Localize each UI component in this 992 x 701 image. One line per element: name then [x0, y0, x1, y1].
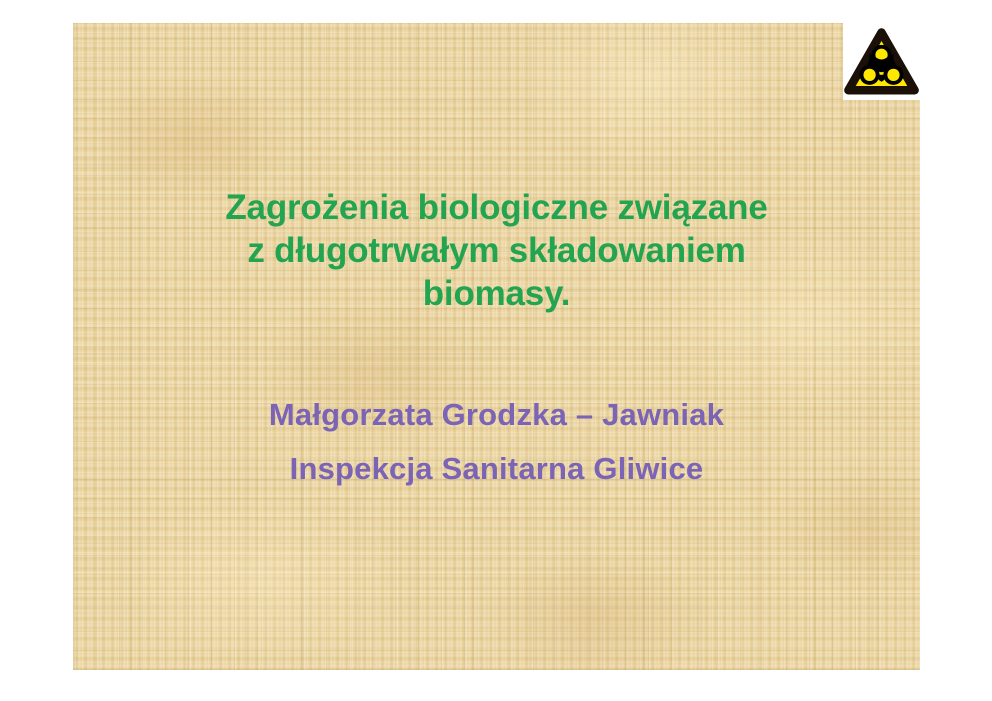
- presentation-slide: Zagrożenia biologiczne związane z długot…: [73, 23, 920, 670]
- title-line-1: Zagrożenia biologiczne związane: [73, 186, 920, 229]
- author-affiliation: Inspekcja Sanitarna Gliwice: [73, 442, 920, 496]
- slide-title: Zagrożenia biologiczne związane z długot…: [73, 186, 920, 315]
- slide-content: Zagrożenia biologiczne związane z długot…: [73, 23, 920, 670]
- title-line-3: biomasy.: [73, 272, 920, 315]
- author-name: Małgorzata Grodzka – Jawniak: [73, 388, 920, 442]
- biohazard-warning-icon: [843, 22, 920, 100]
- title-line-2: z długotrwałym składowaniem: [73, 229, 920, 272]
- slide-author: Małgorzata Grodzka – Jawniak Inspekcja S…: [73, 388, 920, 496]
- biohazard-warning-sign: [843, 22, 920, 100]
